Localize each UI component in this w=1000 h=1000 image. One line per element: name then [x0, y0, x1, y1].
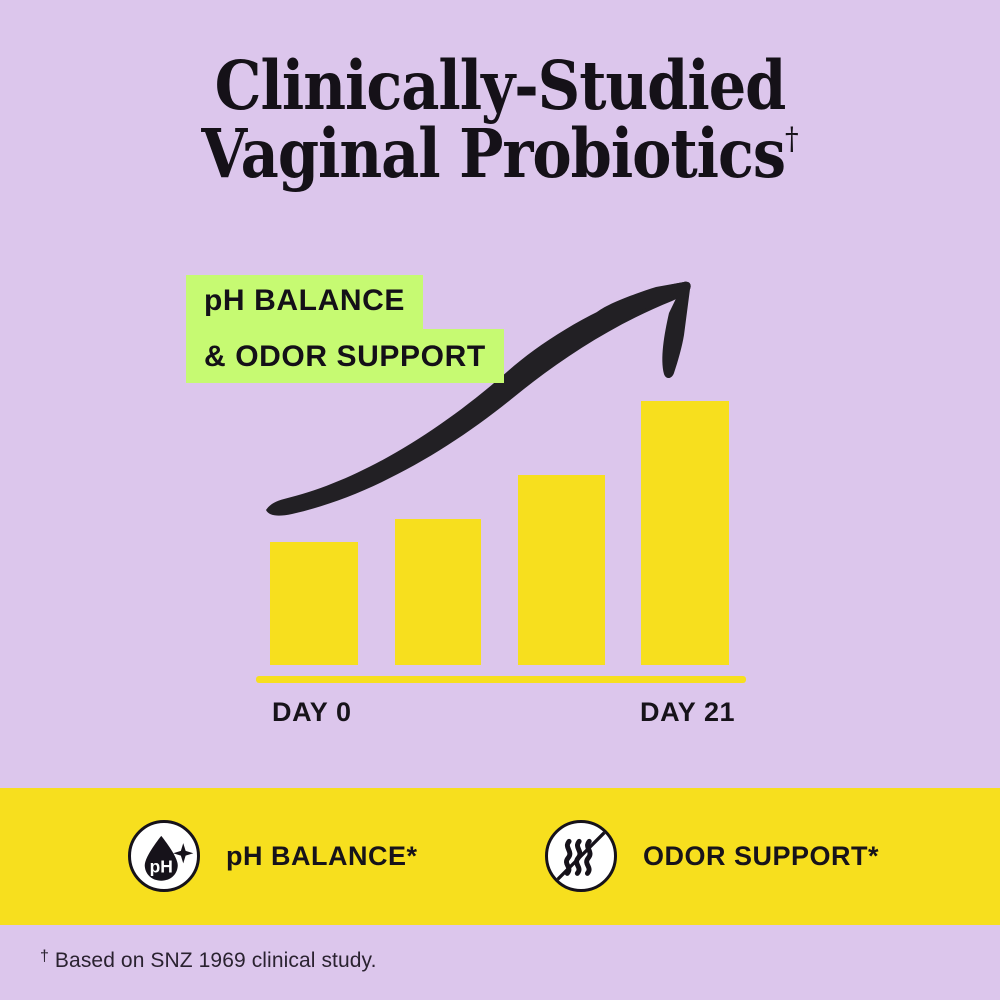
claim-odor-support-label: ODOR SUPPORT*	[643, 841, 879, 872]
callout-highlight: pH BALANCE & ODOR SUPPORT	[186, 275, 504, 383]
claim-ph-balance: pH pH BALANCE*	[128, 806, 418, 906]
chart-tick-day-21: DAY 21	[640, 697, 735, 728]
footnote: † Based on SNZ 1969 clinical study.	[40, 948, 377, 973]
growth-bar-chart: DAY 0 DAY 21	[0, 0, 1000, 780]
claim-ph-balance-label: pH BALANCE*	[226, 841, 418, 872]
svg-text:pH: pH	[150, 857, 173, 877]
claims-band: pH pH BALANCE* ODOR SUPPORT*	[0, 788, 1000, 925]
no-odor-icon	[545, 820, 617, 892]
ph-drop-icon: pH	[128, 820, 200, 892]
footnote-dagger: †	[40, 948, 49, 965]
chart-tick-day-0: DAY 0	[272, 697, 352, 728]
claim-odor-support: ODOR SUPPORT*	[545, 806, 879, 906]
chart-bar-1	[270, 542, 358, 665]
callout-line-2: & ODOR SUPPORT	[186, 329, 504, 383]
promo-graphic: Clinically-Studied Vaginal Probiotics† p…	[0, 0, 1000, 1000]
chart-baseline	[256, 676, 746, 683]
callout-line-1: pH BALANCE	[186, 275, 423, 329]
chart-bar-2	[395, 519, 481, 665]
footnote-text: Based on SNZ 1969 clinical study.	[49, 949, 377, 972]
